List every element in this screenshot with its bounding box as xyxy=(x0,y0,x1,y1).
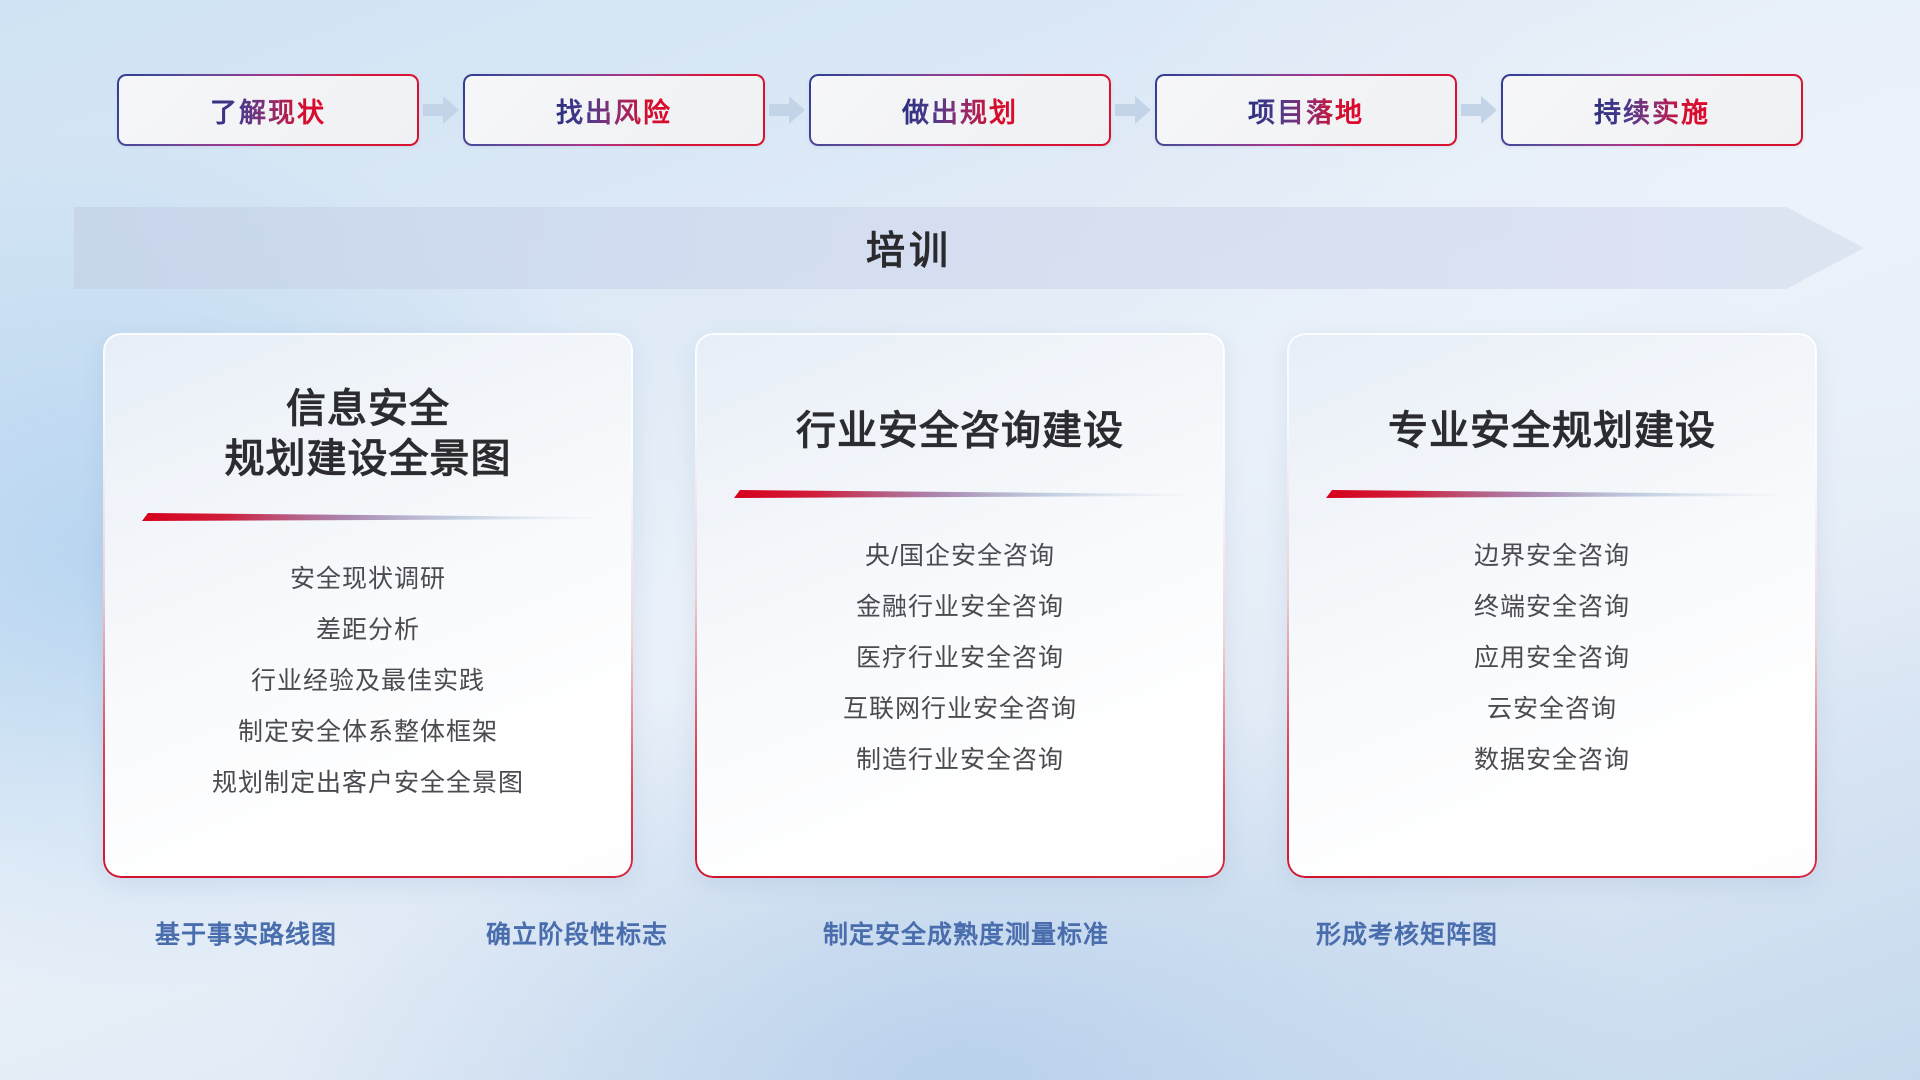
service-card-3[interactable]: 专业安全规划建设边界安全咨询终端安全咨询应用安全咨询云安全咨询数据安全咨询 xyxy=(1287,333,1817,878)
service-cards: 信息安全 规划建设全景图安全现状调研差距分析行业经验及最佳实践制定安全体系整体框… xyxy=(0,333,1920,888)
flow-step-label: 持续实施 xyxy=(1594,91,1710,130)
list-item[interactable]: 数据安全咨询 xyxy=(1474,735,1630,786)
service-card-1[interactable]: 信息安全 规划建设全景图安全现状调研差距分析行业经验及最佳实践制定安全体系整体框… xyxy=(103,333,633,878)
arrow-right-icon xyxy=(419,74,463,146)
card-title: 信息安全 规划建设全景图 xyxy=(225,381,512,484)
list-item[interactable]: 终端安全咨询 xyxy=(1474,582,1630,633)
list-item[interactable]: 央/国企安全咨询 xyxy=(865,531,1055,582)
caption-2: 确立阶段性标志 xyxy=(486,915,668,951)
banner-title: 培训 xyxy=(74,207,1864,289)
flow-step-2[interactable]: 找出风险 xyxy=(463,74,765,146)
caption-row: 基于事实路线图确立阶段性标志制定安全成熟度测量标准形成考核矩阵图 xyxy=(0,915,1920,965)
arrow-right-icon xyxy=(1457,74,1501,146)
flow-step-label: 找出风险 xyxy=(556,91,672,130)
arrow-right-icon xyxy=(1111,74,1155,146)
caption-4: 形成考核矩阵图 xyxy=(1316,915,1498,951)
card-title: 行业安全咨询建设 xyxy=(796,381,1124,457)
caption-1: 基于事实路线图 xyxy=(155,915,337,951)
list-item[interactable]: 边界安全咨询 xyxy=(1474,531,1630,582)
flow-step-label: 项目落地 xyxy=(1248,91,1364,130)
card-divider xyxy=(734,487,1186,501)
training-banner: 培训 xyxy=(74,207,1864,289)
flow-step-4[interactable]: 项目落地 xyxy=(1155,74,1457,146)
flow-step-label: 做出规划 xyxy=(902,91,1018,130)
card-divider xyxy=(1326,487,1778,501)
process-flow-row: 了解现状找出风险做出规划项目落地持续实施 xyxy=(0,74,1920,146)
flow-step-5[interactable]: 持续实施 xyxy=(1501,74,1803,146)
list-item[interactable]: 规划制定出客户安全全景图 xyxy=(212,758,524,809)
caption-3: 制定安全成熟度测量标准 xyxy=(823,915,1109,951)
card-item-list: 安全现状调研差距分析行业经验及最佳实践制定安全体系整体框架规划制定出客户安全全景… xyxy=(137,554,599,809)
flow-step-label: 了解现状 xyxy=(210,91,326,130)
card-item-list: 央/国企安全咨询金融行业安全咨询医疗行业安全咨询互联网行业安全咨询制造行业安全咨… xyxy=(729,531,1191,786)
flow-step-3[interactable]: 做出规划 xyxy=(809,74,1111,146)
list-item[interactable]: 差距分析 xyxy=(316,605,420,656)
list-item[interactable]: 安全现状调研 xyxy=(290,554,446,605)
list-item[interactable]: 互联网行业安全咨询 xyxy=(843,684,1077,735)
card-divider xyxy=(142,510,594,524)
card-title: 专业安全规划建设 xyxy=(1388,381,1716,457)
service-card-2[interactable]: 行业安全咨询建设央/国企安全咨询金融行业安全咨询医疗行业安全咨询互联网行业安全咨… xyxy=(695,333,1225,878)
list-item[interactable]: 制定安全体系整体框架 xyxy=(238,707,498,758)
list-item[interactable]: 金融行业安全咨询 xyxy=(856,582,1064,633)
arrow-right-icon xyxy=(765,74,809,146)
flow-step-1[interactable]: 了解现状 xyxy=(117,74,419,146)
list-item[interactable]: 制造行业安全咨询 xyxy=(856,735,1064,786)
card-item-list: 边界安全咨询终端安全咨询应用安全咨询云安全咨询数据安全咨询 xyxy=(1321,531,1783,786)
list-item[interactable]: 行业经验及最佳实践 xyxy=(251,656,485,707)
list-item[interactable]: 云安全咨询 xyxy=(1487,684,1617,735)
list-item[interactable]: 医疗行业安全咨询 xyxy=(856,633,1064,684)
list-item[interactable]: 应用安全咨询 xyxy=(1474,633,1630,684)
